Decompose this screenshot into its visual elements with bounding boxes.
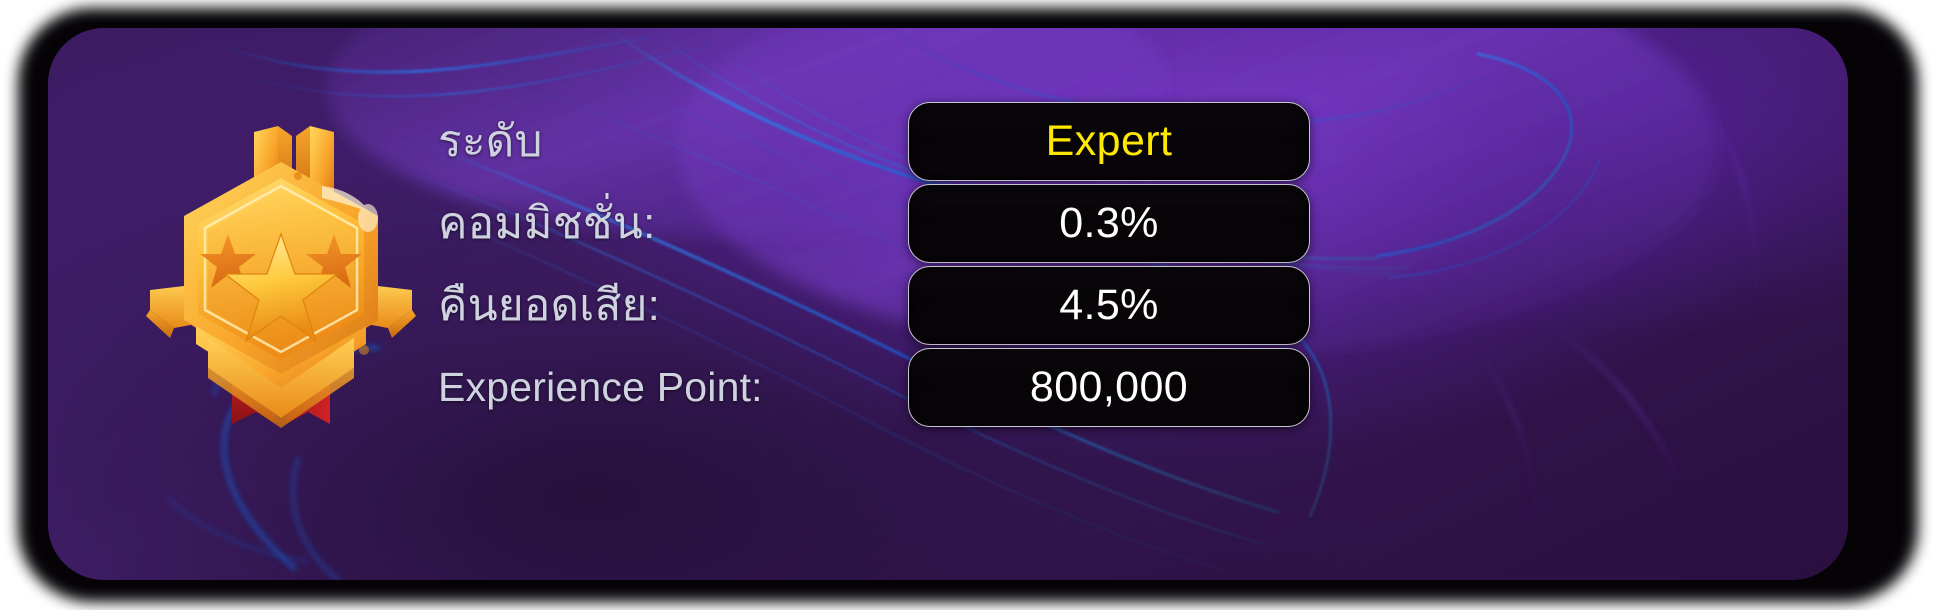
- experience-point-value-box[interactable]: 800,000: [908, 348, 1310, 427]
- experience-point-value: 800,000: [1030, 366, 1188, 409]
- stats-row: Experience Point: 800,000: [48, 344, 1848, 430]
- cashback-label: คืนยอดเสีย:: [438, 270, 660, 340]
- commission-label: คอมมิชชั่น:: [438, 188, 656, 258]
- cashback-value: 4.5%: [1059, 284, 1159, 327]
- commission-value: 0.3%: [1059, 202, 1159, 245]
- stats-list: ระดับ Expert คอมมิชชั่น: 0.3% คืนยอดเสีย…: [48, 28, 1848, 580]
- stats-row: ระดับ Expert: [48, 98, 1848, 184]
- rank-value: Expert: [1046, 120, 1173, 163]
- stats-row: คืนยอดเสีย: 4.5%: [48, 262, 1848, 348]
- rank-value-box[interactable]: Expert: [908, 102, 1310, 181]
- rank-card: ระดับ Expert คอมมิชชั่น: 0.3% คืนยอดเสีย…: [48, 28, 1848, 580]
- rank-card-screenshot: ระดับ Expert คอมมิชชั่น: 0.3% คืนยอดเสีย…: [0, 0, 1936, 610]
- commission-value-box[interactable]: 0.3%: [908, 184, 1310, 263]
- stats-row: คอมมิชชั่น: 0.3%: [48, 180, 1848, 266]
- rank-label: ระดับ: [438, 106, 543, 176]
- experience-point-label: Experience Point:: [438, 364, 763, 411]
- cashback-value-box[interactable]: 4.5%: [908, 266, 1310, 345]
